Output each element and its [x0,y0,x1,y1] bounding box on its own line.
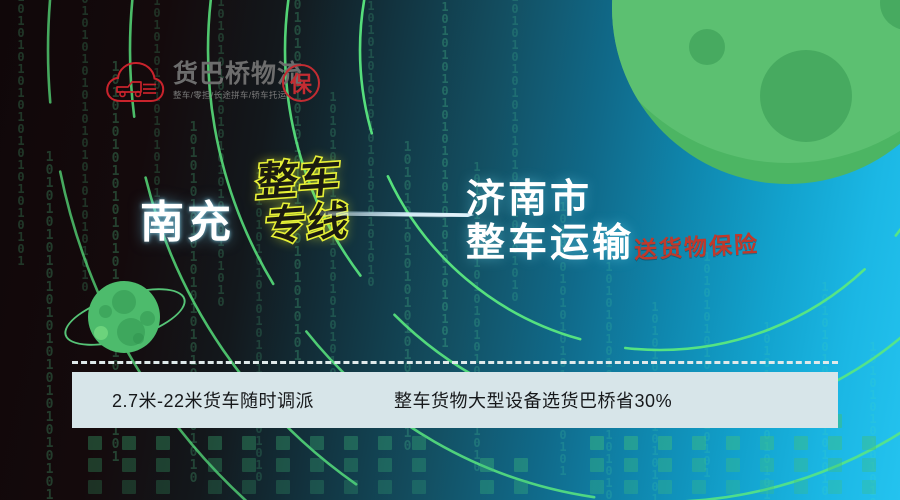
dashed-divider [72,361,838,364]
mosaic-square [658,436,672,450]
mosaic-square [242,480,256,494]
planet-crater [133,333,144,344]
mosaic-square [692,480,706,494]
truck-in-cloud-icon [104,58,166,104]
mosaic-square [514,458,528,472]
mosaic-square [378,480,392,494]
arrow-beam-right-icon [318,200,474,230]
mosaic-square [276,480,290,494]
destination-service: 整车运输 [466,222,634,266]
mosaic-square [344,480,358,494]
mosaic-square [378,458,392,472]
brand-logo: 货巴桥物流 整车/零担/长途拼车/轿车托运 [104,58,303,104]
brand-tagline: 整车/零担/长途拼车/轿车托运 [173,91,303,100]
mosaic-square [242,436,256,450]
mosaic-square [208,458,222,472]
mosaic-square [122,436,136,450]
mosaic-square [624,480,638,494]
mosaic-square [156,480,170,494]
mosaic-square [480,458,494,472]
mosaic-square [480,480,494,494]
planet-crater [99,305,112,318]
mosaic-square [310,480,324,494]
mosaic-square [590,436,604,450]
mosaic-square [692,458,706,472]
insurance-badge: 保 [282,64,320,102]
destination-city: 济南市 [466,178,634,222]
mosaic-square [726,458,740,472]
mosaic-square [658,480,672,494]
mosaic-square [242,458,256,472]
mosaic-square [590,480,604,494]
mosaic-square [412,458,426,472]
mosaic-square [412,436,426,450]
mosaic-square [590,458,604,472]
mosaic-square [862,458,876,472]
mosaic-square [208,436,222,450]
mosaic-square [760,436,774,450]
mosaic-square [862,480,876,494]
mosaic-square [378,436,392,450]
planet-crater [760,50,852,142]
mosaic-square [514,480,528,494]
origin-city: 南充 [140,186,234,250]
mosaic-square [624,458,638,472]
mosaic-square [344,436,358,450]
mosaic-square [726,480,740,494]
mosaic-square [156,458,170,472]
mosaic-square [156,436,170,450]
footer-right-text: 整车货物大型设备选货巴桥省30% [394,387,672,413]
mosaic-square [276,436,290,450]
mosaic-square [344,458,358,472]
mosaic-square [760,480,774,494]
mosaic-square [208,480,222,494]
mosaic-square [88,480,102,494]
footer-left-text: 2.7米-22米货车随时调派 [112,387,314,413]
planet-crater [140,311,155,326]
mosaic-square [828,458,842,472]
planet-crater [112,290,136,314]
mosaic-square [794,480,808,494]
mosaic-square [624,436,638,450]
mosaic-square [412,480,426,494]
mosaic-square [828,436,842,450]
mosaic-square [310,436,324,450]
mosaic-square [122,458,136,472]
mosaic-square [276,458,290,472]
route-line-label-top: 整车 [255,157,355,203]
mosaic-square [88,436,102,450]
footer-bar: 2.7米-22米货车随时调派 整车货物大型设备选货巴桥省30% [72,372,838,428]
destination-block: 济南市 整车运输 [466,178,634,265]
mosaic-square [310,458,324,472]
poster-canvas: 1010101010101010101010110101010101010101… [0,0,900,500]
mosaic-square [122,480,136,494]
mosaic-square [794,436,808,450]
mosaic-square [794,458,808,472]
ringed-planet-icon [88,281,160,353]
mosaic-square [88,458,102,472]
planet-crater [94,326,108,340]
mosaic-square [828,480,842,494]
mosaic-square [760,458,774,472]
mosaic-square [692,436,706,450]
mosaic-square [726,436,740,450]
mosaic-square [658,458,672,472]
mosaic-square [862,436,876,450]
insurance-note: 送货物保险 [633,225,760,265]
